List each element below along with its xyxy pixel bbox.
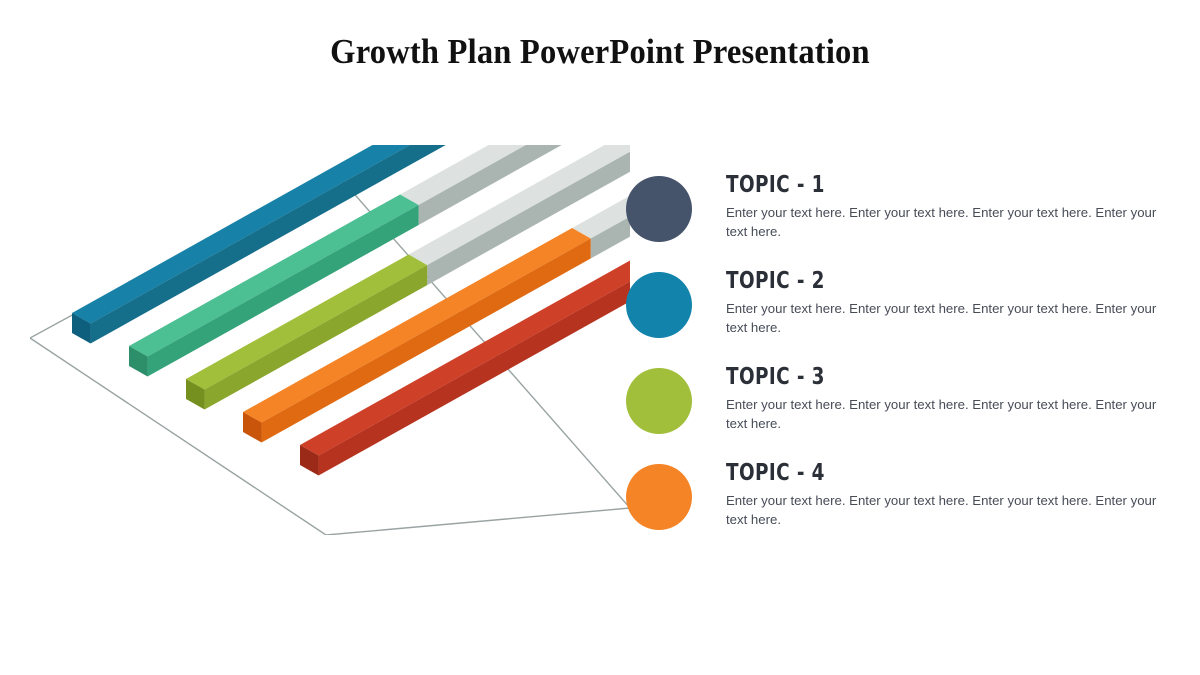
topic-list: TOPIC - 1 Enter your text here. Enter yo… [626,172,1186,556]
topic-heading-3: TOPIC - 3 [726,364,1094,390]
topic-heading-1: TOPIC - 1 [726,172,1094,198]
topic-bullet-1[interactable] [626,176,692,242]
bars-group [72,145,630,476]
topic-heading-2: TOPIC - 2 [726,268,1094,294]
page-title: Growth Plan PowerPoint Presentation [42,32,1158,72]
topic-text-1: Enter your text here. Enter your text he… [726,203,1181,241]
isometric-bar-chart [30,145,630,535]
topic-body-3: TOPIC - 3 Enter your text here. Enter yo… [692,364,1186,433]
topic-heading-4: TOPIC - 4 [726,460,1094,486]
topic-body-4: TOPIC - 4 Enter your text here. Enter yo… [692,460,1186,529]
topic-bullet-3[interactable] [626,368,692,434]
topic-bullet-2[interactable] [626,272,692,338]
topic-item-2[interactable]: TOPIC - 2 Enter your text here. Enter yo… [626,268,1186,364]
topic-bullet-4[interactable] [626,464,692,530]
topic-body-1: TOPIC - 1 Enter your text here. Enter yo… [692,172,1186,241]
topic-item-3[interactable]: TOPIC - 3 Enter your text here. Enter yo… [626,364,1186,460]
topic-item-1[interactable]: TOPIC - 1 Enter your text here. Enter yo… [626,172,1186,268]
topic-text-3: Enter your text here. Enter your text he… [726,395,1181,433]
presentation-slide: Growth Plan PowerPoint Presentation TOPI… [0,0,1200,675]
isometric-bar-chart-svg [30,145,630,535]
topic-text-2: Enter your text here. Enter your text he… [726,299,1181,337]
topic-text-4: Enter your text here. Enter your text he… [726,491,1181,529]
topic-body-2: TOPIC - 2 Enter your text here. Enter yo… [692,268,1186,337]
base-plate-outline [30,172,630,535]
topic-item-4[interactable]: TOPIC - 4 Enter your text here. Enter yo… [626,460,1186,556]
